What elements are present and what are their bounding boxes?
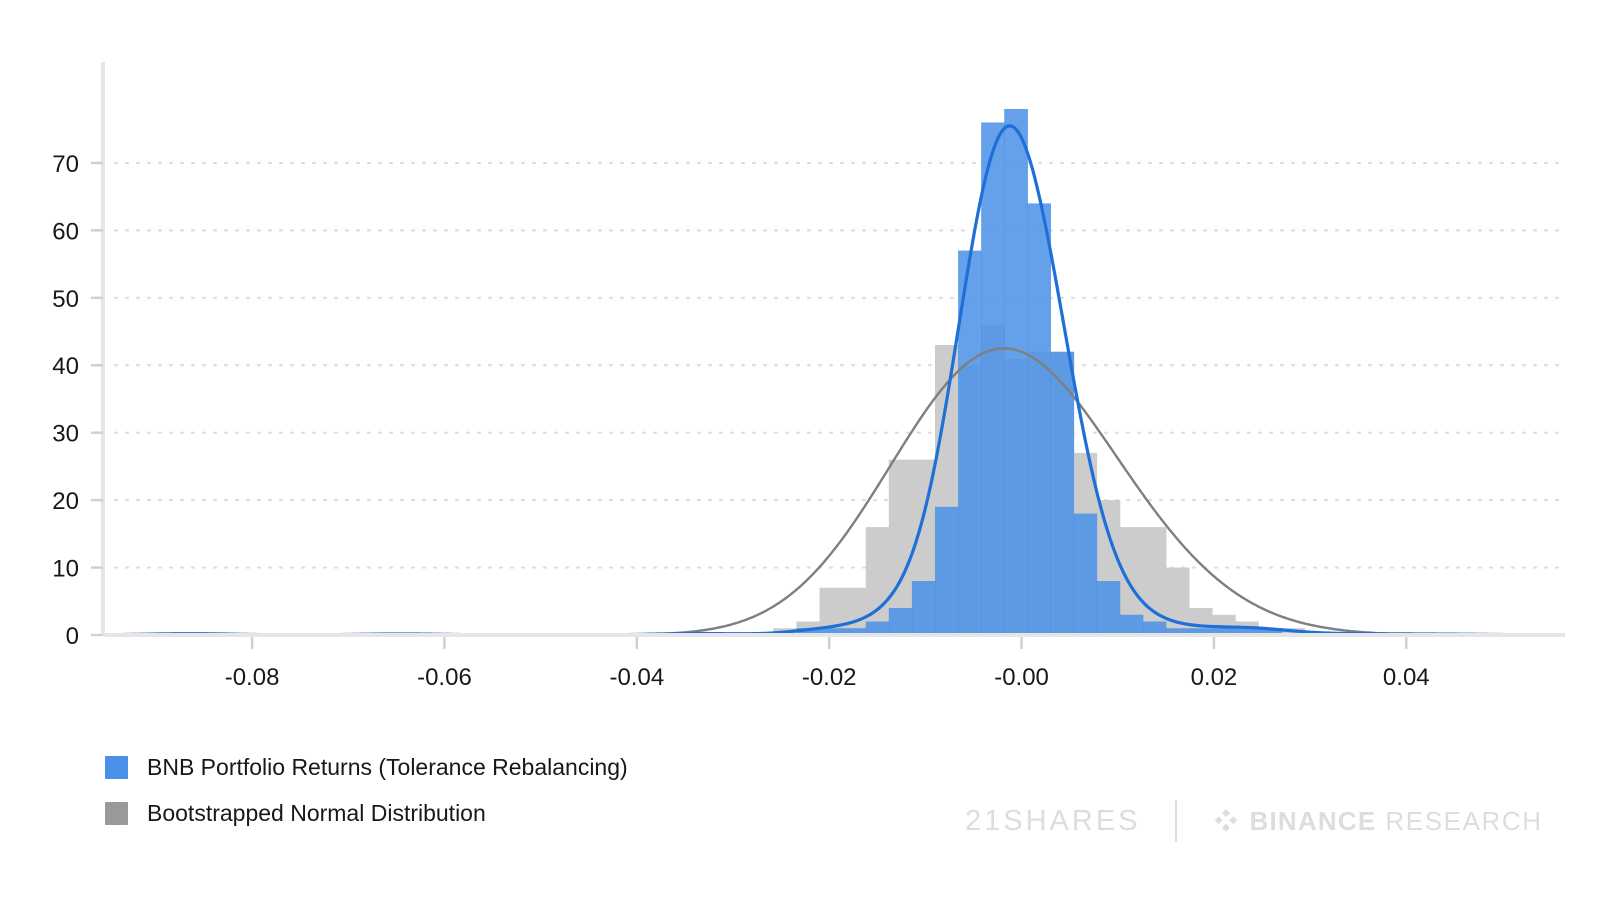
legend-swatch-bnb-portfolio: [105, 756, 128, 779]
watermark-binance-text: BINANCE: [1250, 806, 1377, 837]
chart-legend: BNB Portfolio Returns (Tolerance Rebalan…: [105, 752, 628, 828]
binance-diamond-icon: [1211, 806, 1241, 836]
histogram-bar: [866, 527, 890, 635]
histogram-bar: [981, 122, 1005, 635]
legend-label-bnb-portfolio: BNB Portfolio Returns (Tolerance Rebalan…: [147, 756, 628, 779]
histogram-bar: [1143, 622, 1167, 635]
watermark-binance-research-logo: BINANCE RESEARCH: [1211, 806, 1543, 837]
svg-text:30: 30: [52, 421, 79, 448]
svg-text:20: 20: [52, 488, 79, 515]
svg-text:0: 0: [66, 623, 79, 650]
watermark-research-text: RESEARCH: [1385, 806, 1542, 837]
histogram-bar: [1027, 203, 1051, 635]
histogram-bar: [1143, 527, 1167, 635]
svg-text:40: 40: [52, 353, 79, 380]
legend-swatch-bootstrapped-normal: [105, 802, 128, 825]
svg-text:60: 60: [52, 218, 79, 245]
legend-label-bootstrapped-normal: Bootstrapped Normal Distribution: [147, 802, 486, 825]
svg-text:50: 50: [52, 286, 79, 313]
histogram-bar: [843, 588, 867, 635]
histogram-bar: [1097, 581, 1121, 635]
histogram-bar: [1073, 514, 1097, 635]
watermark-21shares-logo: 21SHARES: [965, 805, 1141, 838]
legend-item-bnb-portfolio[interactable]: BNB Portfolio Returns (Tolerance Rebalan…: [105, 752, 628, 782]
svg-text:10: 10: [52, 556, 79, 583]
histogram-bar: [935, 507, 959, 635]
watermark-divider: [1175, 800, 1177, 842]
svg-text:0.02: 0.02: [1191, 664, 1238, 691]
svg-text:-0.04: -0.04: [609, 664, 664, 691]
svg-text:-0.00: -0.00: [994, 664, 1049, 691]
histogram-bar: [1120, 615, 1144, 635]
svg-text:0.04: 0.04: [1383, 664, 1430, 691]
histogram-bar: [912, 581, 936, 635]
svg-text:70: 70: [52, 151, 79, 178]
histogram-bar: [866, 622, 890, 635]
legend-item-bootstrapped-normal[interactable]: Bootstrapped Normal Distribution: [105, 798, 628, 828]
svg-text:-0.06: -0.06: [417, 664, 472, 691]
brand-watermark: 21SHARES BINANCE RESEARCH: [965, 800, 1543, 842]
histogram-bar: [1004, 109, 1028, 635]
svg-text:-0.08: -0.08: [225, 664, 280, 691]
histogram-bar: [889, 608, 913, 635]
svg-text:-0.02: -0.02: [802, 664, 857, 691]
